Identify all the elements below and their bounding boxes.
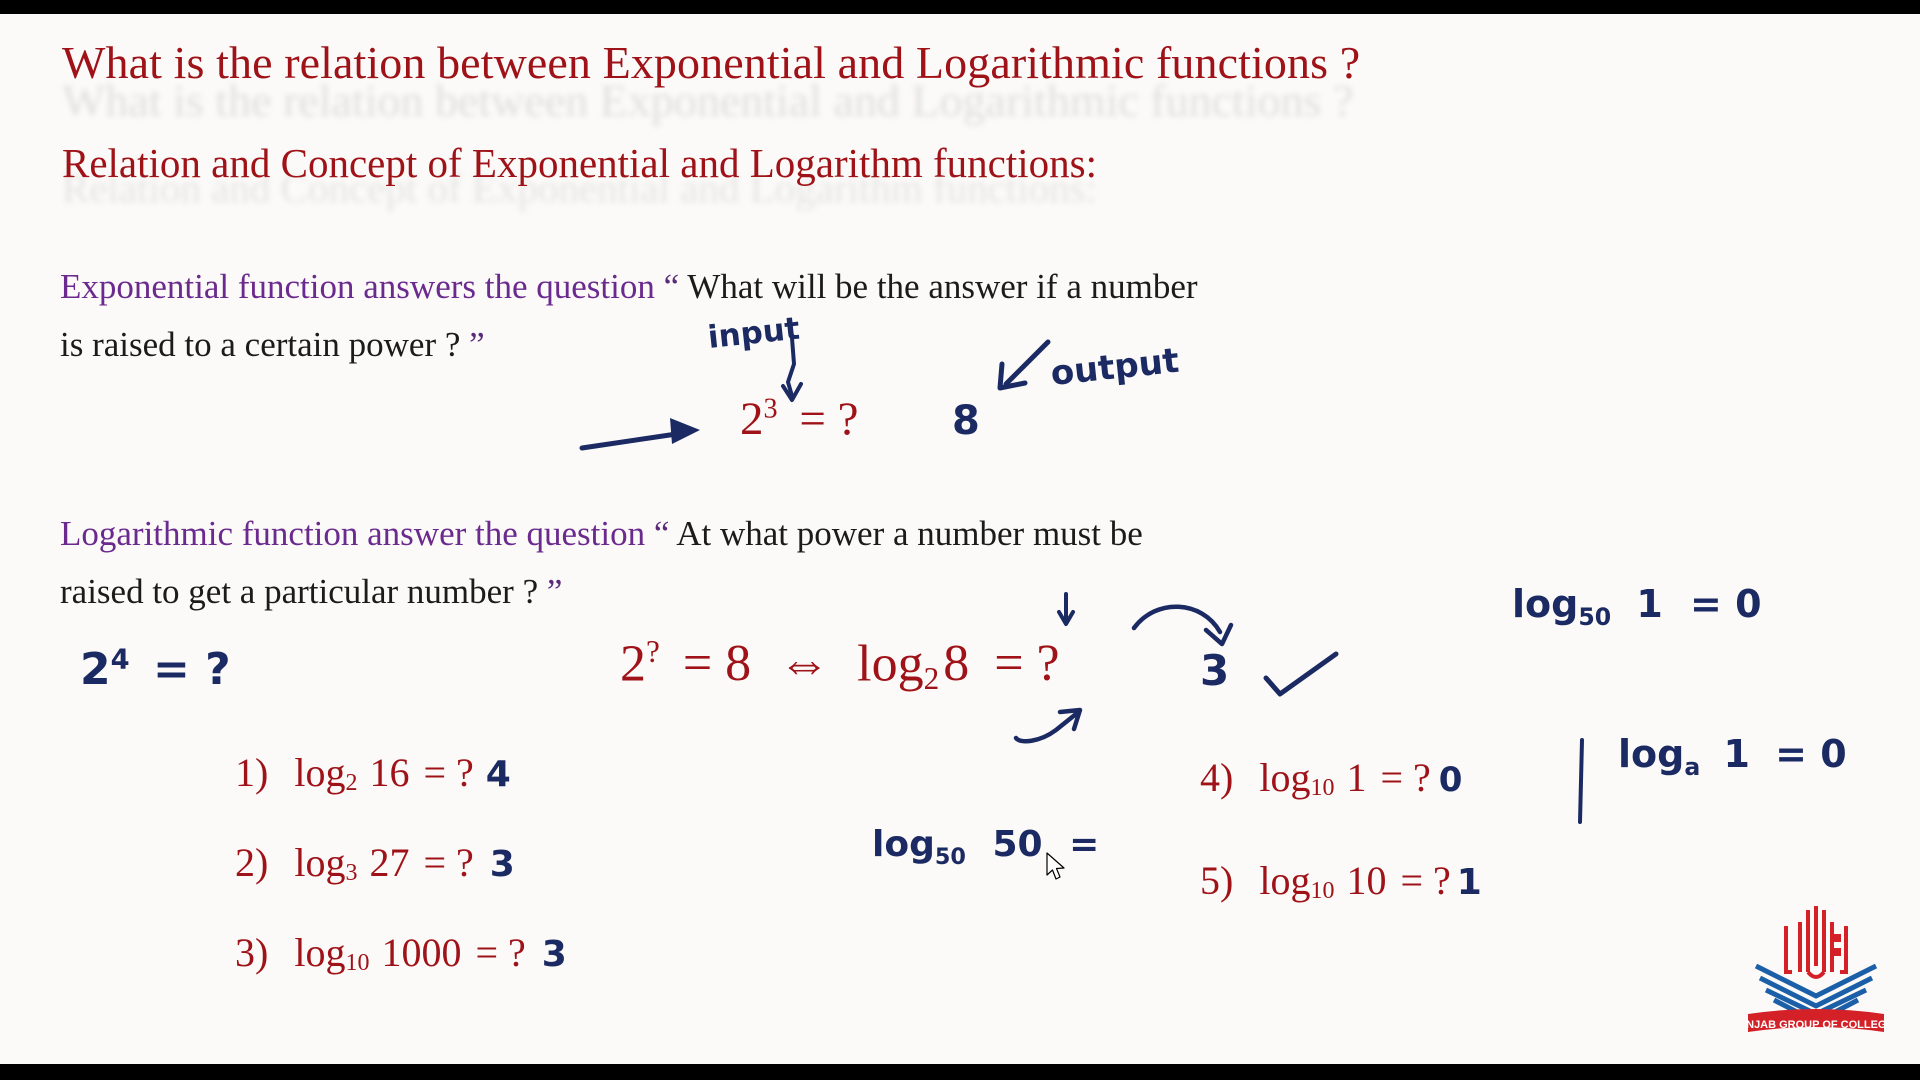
log-eq-left-exponent: ? bbox=[646, 634, 660, 669]
problem-handwritten-answer: 4 bbox=[486, 754, 511, 795]
note-argument: 1 bbox=[1723, 732, 1749, 776]
handwritten-output-label: output bbox=[1049, 341, 1181, 394]
problem-argument: 1 bbox=[1346, 755, 1366, 800]
problem-number: 5) bbox=[1200, 858, 1233, 903]
problem-equals: = ? bbox=[423, 840, 473, 885]
problem-item: 1) log2 16 = ? 4 bbox=[235, 749, 567, 839]
problem-argument: 27 bbox=[369, 840, 409, 885]
problem-equals: = ? bbox=[423, 750, 473, 795]
problem-log-word: log bbox=[294, 840, 345, 885]
exponential-paragraph-line2: is raised to a certain power ? ” bbox=[60, 320, 485, 370]
check-mark-icon bbox=[1258, 644, 1348, 704]
problem-log-base: 10 bbox=[1310, 775, 1334, 801]
problem-handwritten-answer: 1 bbox=[1457, 862, 1482, 903]
note-argument: 50 bbox=[992, 824, 1042, 865]
note-log-word: log bbox=[872, 824, 935, 865]
problem-equals: = ? bbox=[475, 930, 525, 975]
exponential-quote-close: ” bbox=[469, 325, 485, 364]
note-log-word: log bbox=[1618, 732, 1684, 776]
problem-item: 3) log10 1000 = ? 3 bbox=[235, 929, 567, 977]
problems-right-column: 4) log10 1 = ? 0 5) log10 10 = ? 1 bbox=[1200, 754, 1482, 905]
problem-handwritten-answer: 3 bbox=[542, 934, 567, 975]
exponential-paragraph-line1: Exponential function answers the questio… bbox=[60, 262, 1198, 312]
note-log-base: a bbox=[1684, 753, 1700, 781]
log-eq-left-base: 2 bbox=[620, 635, 646, 692]
down-tick-icon bbox=[1052, 592, 1082, 632]
problem-log-word: log bbox=[294, 930, 345, 975]
problem-number: 1) bbox=[235, 750, 268, 795]
problem-item: 5) log10 10 = ? 1 bbox=[1200, 857, 1482, 905]
problem-item: 4) log10 1 = ? 0 bbox=[1200, 754, 1482, 857]
page-subtitle: Relation and Concept of Exponential and … bbox=[62, 139, 1097, 187]
problems-left-column: 1) log2 16 = ? 4 2) log3 27 = ? 3 3) log… bbox=[235, 749, 567, 977]
handwritten-note-loga-1: loga 1 = 0 bbox=[1618, 732, 1847, 781]
underline-hook-arrow-icon bbox=[1010, 686, 1090, 746]
handwritten-side-expression: 24 = ? bbox=[80, 644, 231, 695]
note-log-base: 50 bbox=[935, 844, 966, 870]
handwritten-divider-stroke bbox=[1572, 736, 1596, 828]
exponential-equation: 23 = ? bbox=[740, 392, 858, 446]
handwritten-side-exponent: 4 bbox=[111, 644, 130, 675]
logarithmic-quote-open: “ bbox=[654, 514, 670, 553]
logarithmic-body-line1: At what power a number must be bbox=[676, 514, 1143, 553]
note-log-word: log bbox=[1512, 582, 1578, 626]
exponential-equation-equals: = ? bbox=[799, 393, 858, 445]
curved-arrow-icon bbox=[1128, 594, 1248, 674]
note-argument: 1 bbox=[1636, 582, 1662, 626]
exponential-equation-base: 2 bbox=[740, 393, 764, 445]
exponential-equation-exponent: 3 bbox=[764, 393, 778, 424]
exponential-body-line2: is raised to a certain power ? bbox=[60, 325, 460, 364]
problem-number: 2) bbox=[235, 840, 268, 885]
mouse-cursor-icon bbox=[1046, 852, 1068, 882]
logarithmic-lead: Logarithmic function answer the question bbox=[60, 514, 645, 553]
problem-equals: = ? bbox=[1400, 858, 1450, 903]
problem-log-word: log bbox=[294, 750, 345, 795]
logarithmic-paragraph-line1: Logarithmic function answer the question… bbox=[60, 509, 1143, 559]
problem-number: 3) bbox=[235, 930, 268, 975]
problem-log-word: log bbox=[1259, 858, 1310, 903]
handwritten-answer-3: 3 bbox=[1200, 646, 1229, 695]
problem-log-base: 2 bbox=[345, 770, 357, 796]
logarithmic-body-line2: raised to get a particular number ? bbox=[60, 572, 538, 611]
problem-item: 2) log3 27 = ? 3 bbox=[235, 839, 567, 929]
note-equals: = 0 bbox=[1775, 732, 1847, 776]
note-equals: = 0 bbox=[1690, 582, 1762, 626]
page-title: What is the relation between Exponential… bbox=[62, 36, 1360, 89]
problem-log-base: 10 bbox=[345, 950, 369, 976]
problem-equals: = ? bbox=[1380, 755, 1430, 800]
log-eq-log-arg: 8 bbox=[943, 635, 969, 692]
exponential-lead: Exponential function answers the questio… bbox=[60, 267, 655, 306]
problem-log-base: 10 bbox=[1310, 878, 1334, 904]
exponential-body-line1: What will be the answer if a number bbox=[687, 267, 1197, 306]
note-equals: = bbox=[1069, 824, 1099, 865]
slide-canvas: What is the relation between Exponential… bbox=[0, 14, 1920, 1064]
exponential-quote-open: “ bbox=[664, 267, 680, 306]
punjab-group-of-colleges-logo: PUNJAB GROUP OF COLLEGES bbox=[1746, 900, 1886, 1040]
problem-argument: 10 bbox=[1346, 858, 1386, 903]
logarithmic-quote-close: ” bbox=[547, 572, 563, 611]
problem-handwritten-answer: 3 bbox=[490, 844, 515, 885]
problem-log-base: 3 bbox=[345, 860, 357, 886]
log-eq-left-equals: = 8 bbox=[683, 635, 751, 692]
handwritten-side-equals: = ? bbox=[153, 644, 231, 695]
problem-argument: 1000 bbox=[381, 930, 461, 975]
handwritten-note-log50-1: log50 1 = 0 bbox=[1512, 582, 1762, 631]
handwritten-side-base: 2 bbox=[80, 644, 111, 695]
logo-banner-text: PUNJAB GROUP OF COLLEGES bbox=[1746, 1019, 1886, 1031]
note-log-base: 50 bbox=[1578, 603, 1611, 631]
problem-handwritten-answer: 0 bbox=[1439, 760, 1463, 800]
log-eq-iff-symbol: ⇔ bbox=[778, 635, 830, 692]
problem-log-word: log bbox=[1259, 755, 1310, 800]
problem-argument: 16 bbox=[369, 750, 409, 795]
problem-number: 4) bbox=[1200, 755, 1233, 800]
handwritten-answer-8: 8 bbox=[952, 398, 980, 444]
pointer-arrow-icon bbox=[578, 406, 718, 456]
logarithmic-main-equation: 2? = 8 ⇔ log28 = ? bbox=[620, 634, 1060, 697]
log-eq-log-word: log bbox=[857, 635, 923, 692]
log-eq-log-base: 2 bbox=[924, 661, 940, 696]
logarithmic-paragraph-line2: raised to get a particular number ? ” bbox=[60, 567, 562, 617]
log-eq-right-equals: = ? bbox=[994, 635, 1059, 692]
